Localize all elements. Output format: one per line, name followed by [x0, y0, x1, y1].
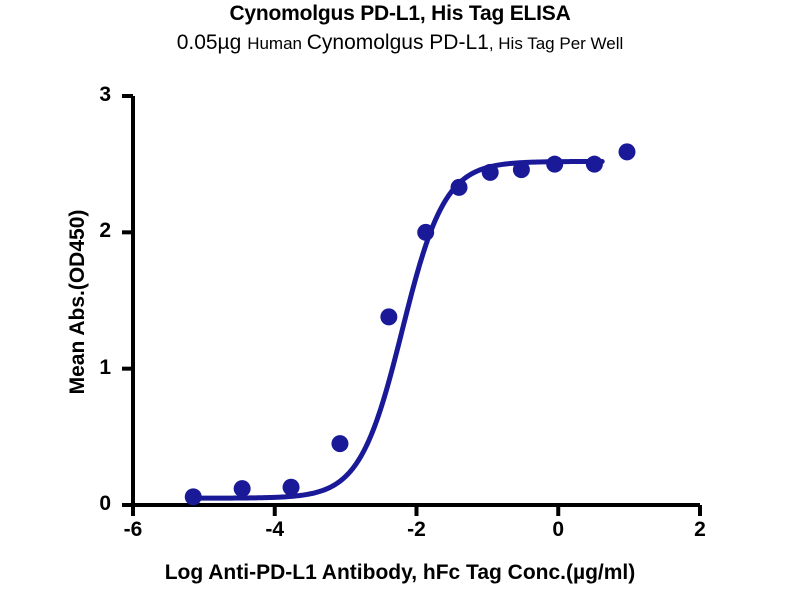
data-point: [619, 143, 636, 160]
x-axis-label: Log Anti-PD-L1 Antibody, hFc Tag Conc.(µ…: [0, 561, 800, 585]
data-point-markers: [185, 143, 636, 505]
data-point: [185, 488, 202, 505]
data-point: [283, 479, 300, 496]
y-tick-label-3: 3: [77, 84, 111, 105]
data-point: [417, 224, 434, 241]
x-tick-label-0: -6: [111, 519, 155, 540]
data-point: [331, 435, 348, 452]
y-tick-label-1: 1: [77, 357, 111, 378]
data-point: [482, 164, 499, 181]
data-point: [513, 161, 530, 178]
fit-curve: [190, 161, 602, 498]
x-tick-label-1: -4: [253, 519, 297, 540]
data-point: [234, 480, 251, 497]
y-tick-label-2: 2: [77, 220, 111, 241]
data-point: [380, 308, 397, 325]
x-tick-label-2: -2: [395, 519, 439, 540]
plot-svg: [0, 0, 800, 600]
y-tick-label-0: 0: [77, 493, 111, 514]
data-point: [451, 179, 468, 196]
data-point: [546, 156, 563, 173]
data-point: [586, 156, 603, 173]
x-tick-label-4: 2: [678, 519, 722, 540]
x-tick-label-3: 0: [536, 519, 580, 540]
axes-group: [122, 96, 700, 516]
y-axis-label: Mean Abs.(OD450): [66, 172, 90, 432]
chart-page: Cynomolgus PD-L1, His Tag ELISA 0.05µg H…: [0, 0, 800, 600]
